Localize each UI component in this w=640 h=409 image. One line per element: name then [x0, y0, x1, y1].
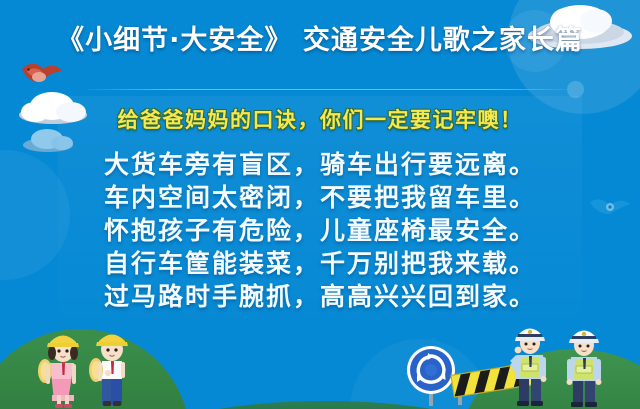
traffic-safety-poster: 《小细节·大安全》 交通安全儿歌之家长篇 给爸爸妈妈的口诀，你们一定要记牢噢！ …: [0, 0, 640, 409]
poster-title-text: 《小细节·大安全》 交通安全儿歌之家长篇: [57, 26, 583, 56]
verse-line: 车内空间太密闭，不要把我留车里。: [0, 181, 640, 214]
verse-list: 大货车旁有盲区，骑车出行要远离。 车内空间太密闭，不要把我留车里。 怀抱孩子有危…: [0, 148, 640, 313]
verse-line: 自行车筐能装菜，千万别把我来载。: [0, 247, 640, 280]
traffic-police-illustration: [502, 317, 626, 409]
poster-subtitle-text: 给爸爸妈妈的口诀，你们一定要记牢噢！: [118, 104, 523, 134]
traffic-police-officer: [510, 329, 547, 407]
poster-title: 《小细节·大安全》 交通安全儿歌之家长篇: [0, 26, 640, 56]
poster-subtitle: 给爸爸妈妈的口诀，你们一定要记牢噢！: [0, 104, 640, 134]
schoolchildren-illustration: [38, 323, 158, 409]
title-divider-knob: [567, 81, 584, 98]
traffic-police-officer: [567, 331, 602, 408]
schoolgirl: [38, 336, 79, 409]
verse-line: 大货车旁有盲区，骑车出行要远离。: [0, 148, 640, 181]
bird-icon: [18, 60, 64, 90]
schoolboy: [89, 335, 128, 407]
title-divider: [88, 89, 566, 90]
verse-line: 过马路时手腕抓，高高兴兴回到家。: [0, 280, 640, 313]
verse-line: 怀抱孩子有危险，儿童座椅最安全。: [0, 214, 640, 247]
